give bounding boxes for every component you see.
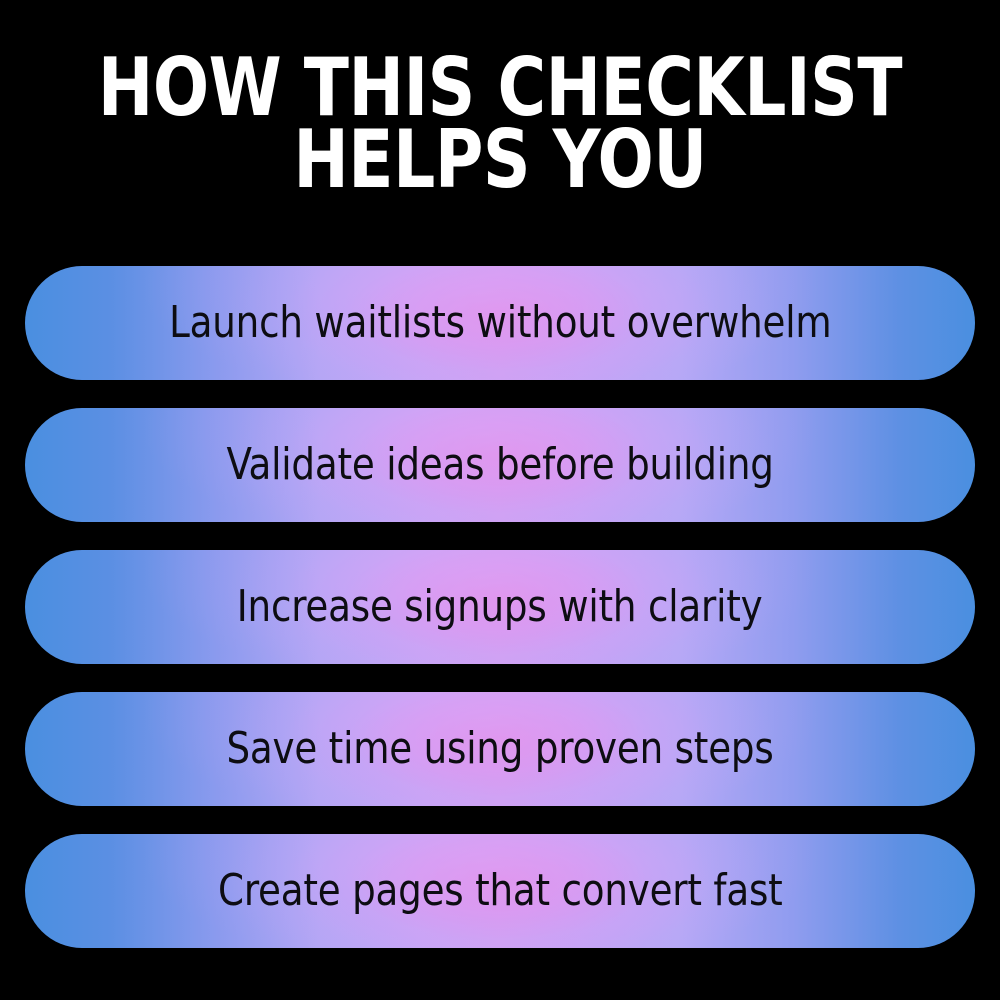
checklist-item-2[interactable]: Validate ideas before building [25, 408, 975, 522]
checklist-item-label: Validate ideas before building [226, 443, 773, 487]
checklist-item-4[interactable]: Save time using proven steps [25, 692, 975, 806]
checklist-list: Launch waitlists without overwhelm Valid… [25, 266, 975, 948]
poster-canvas: HOW THIS CHECKLIST HELPS YOU Launch wait… [0, 0, 1000, 1000]
checklist-item-label: Launch waitlists without overwhelm [169, 301, 831, 345]
checklist-item-1[interactable]: Launch waitlists without overwhelm [25, 266, 975, 380]
page-title-line-2: HELPS YOU [40, 124, 960, 196]
checklist-item-label: Create pages that convert fast [218, 869, 783, 913]
checklist-item-5[interactable]: Create pages that convert fast [25, 834, 975, 948]
checklist-item-3[interactable]: Increase signups with clarity [25, 550, 975, 664]
checklist-item-label: Save time using proven steps [226, 727, 773, 771]
page-title: HOW THIS CHECKLIST HELPS YOU [0, 52, 1000, 196]
checklist-item-label: Increase signups with clarity [237, 585, 763, 629]
